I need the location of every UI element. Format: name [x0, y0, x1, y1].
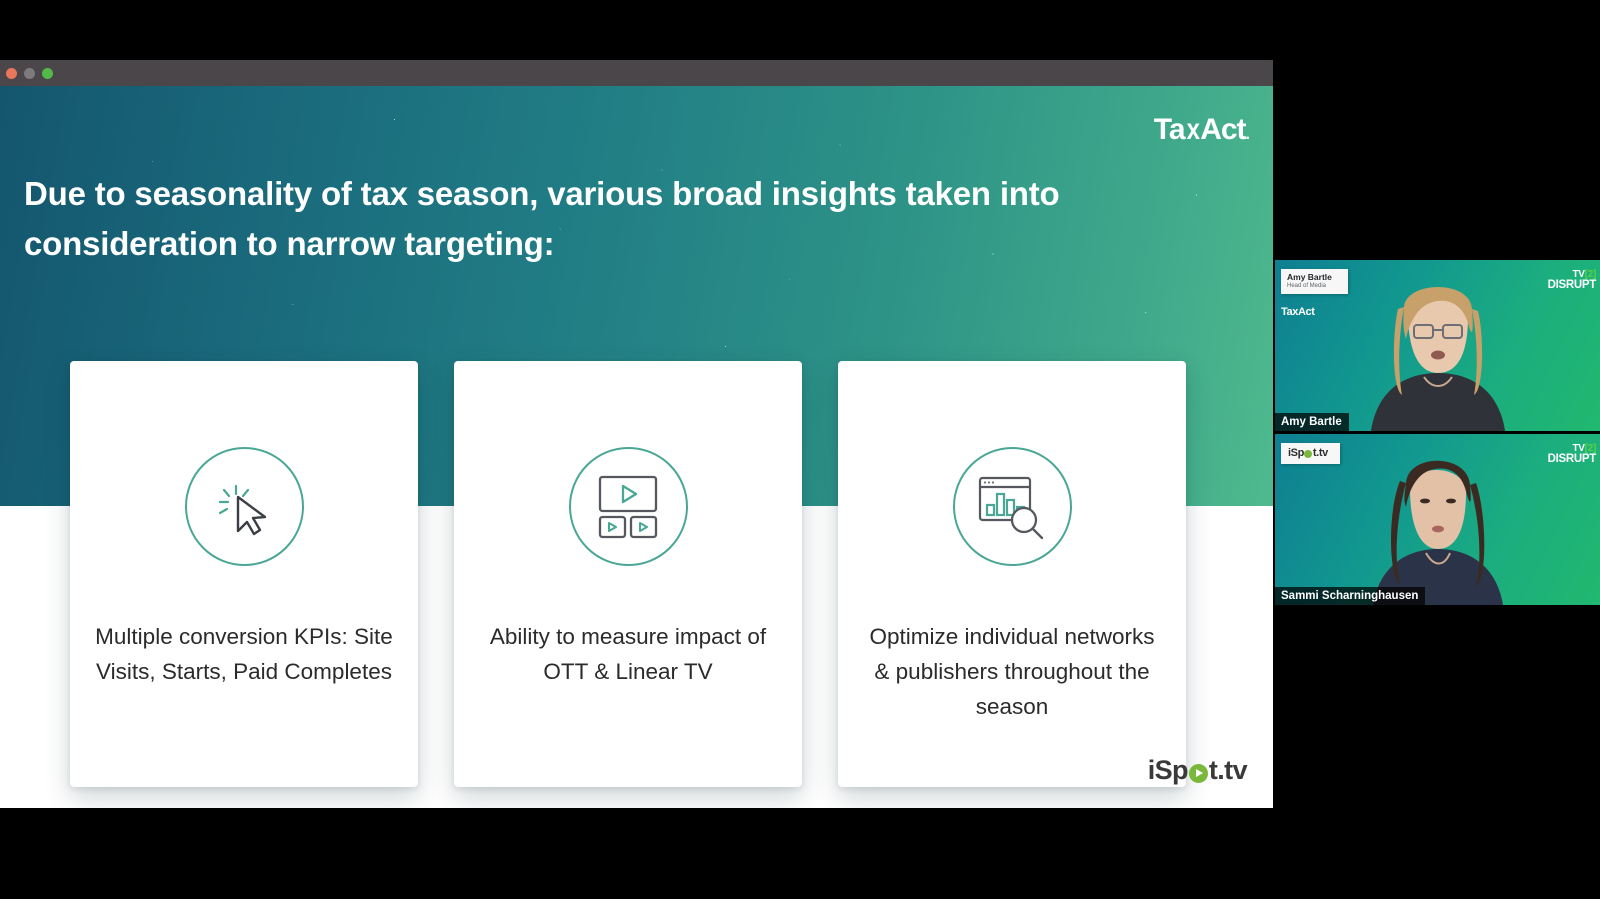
ispot-logo-prefix: iSp: [1148, 755, 1188, 786]
insight-card-3: Optimize individual networks & publisher…: [838, 361, 1186, 787]
ispot-logo-suffix: t.tv: [1209, 755, 1247, 786]
insight-card-1-text: Multiple conversion KPIs: Site Visits, S…: [94, 620, 394, 690]
ispot-tv-logo: iSp t.tv: [1148, 755, 1247, 786]
tv2-disrupt-logo: TV[2] DISRUPT: [1548, 270, 1596, 292]
screen-share-window: TaxAct. Due to seasonality of tax season…: [0, 60, 1273, 808]
panel-brand-taxact: TaxAct: [1281, 306, 1314, 318]
slide-headline: Due to seasonality of tax season, variou…: [24, 169, 1234, 269]
window-titlebar: [0, 60, 1273, 86]
taxact-logo: TaxAct.: [1154, 113, 1249, 147]
insight-card-3-text: Optimize individual networks & publisher…: [862, 620, 1162, 725]
brand-prefix: iSp: [1288, 447, 1304, 459]
participant-video-sammi-scharninghausen: [1348, 443, 1528, 605]
multi-screen-play-icon: [569, 447, 688, 566]
maximize-button[interactable]: [42, 68, 53, 79]
insight-card-2: Ability to measure impact of OTT & Linea…: [454, 361, 802, 787]
play-circle-icon: [1304, 450, 1312, 458]
name-label-sammi-scharninghausen: Sammi Scharninghausen: [1275, 587, 1425, 605]
event-logo-line2: DISRUPT: [1548, 280, 1596, 292]
screen: TaxAct. Due to seasonality of tax season…: [0, 0, 1600, 899]
brand-suffix: t.tv: [1313, 447, 1328, 459]
participant-title: Head of Media: [1287, 283, 1332, 291]
chart-magnifier-icon: [953, 447, 1072, 566]
tv2-disrupt-logo: TV[2] DISRUPT: [1548, 444, 1596, 466]
cursor-click-icon: [185, 447, 304, 566]
taxact-logo-text: TaxAct.: [1154, 113, 1249, 146]
event-logo-line2: DISRUPT: [1548, 454, 1596, 466]
presentation-slide: TaxAct. Due to seasonality of tax season…: [0, 86, 1273, 808]
participant-video-amy-bartle: [1348, 273, 1528, 431]
play-circle-icon: [1189, 764, 1208, 783]
video-panel-sammi-scharninghausen[interactable]: iSp t.tv TV[2] DISRUPT Sammi Scharningha…: [1275, 434, 1600, 605]
minimize-button[interactable]: [24, 68, 35, 79]
name-card-ispot-tv: iSp t.tv: [1281, 443, 1340, 464]
insight-cards: Multiple conversion KPIs: Site Visits, S…: [70, 361, 1186, 808]
close-button[interactable]: [6, 68, 17, 79]
video-panel-amy-bartle[interactable]: Amy Bartle Head of Media TaxAct TV[2] DI…: [1275, 260, 1600, 431]
name-label-amy-bartle: Amy Bartle: [1275, 413, 1349, 431]
name-card-amy-bartle: Amy Bartle Head of Media: [1281, 269, 1348, 294]
participant-name: Amy Bartle: [1287, 272, 1332, 283]
insight-card-2-text: Ability to measure impact of OTT & Linea…: [478, 620, 778, 690]
insight-card-1: Multiple conversion KPIs: Site Visits, S…: [70, 361, 418, 787]
